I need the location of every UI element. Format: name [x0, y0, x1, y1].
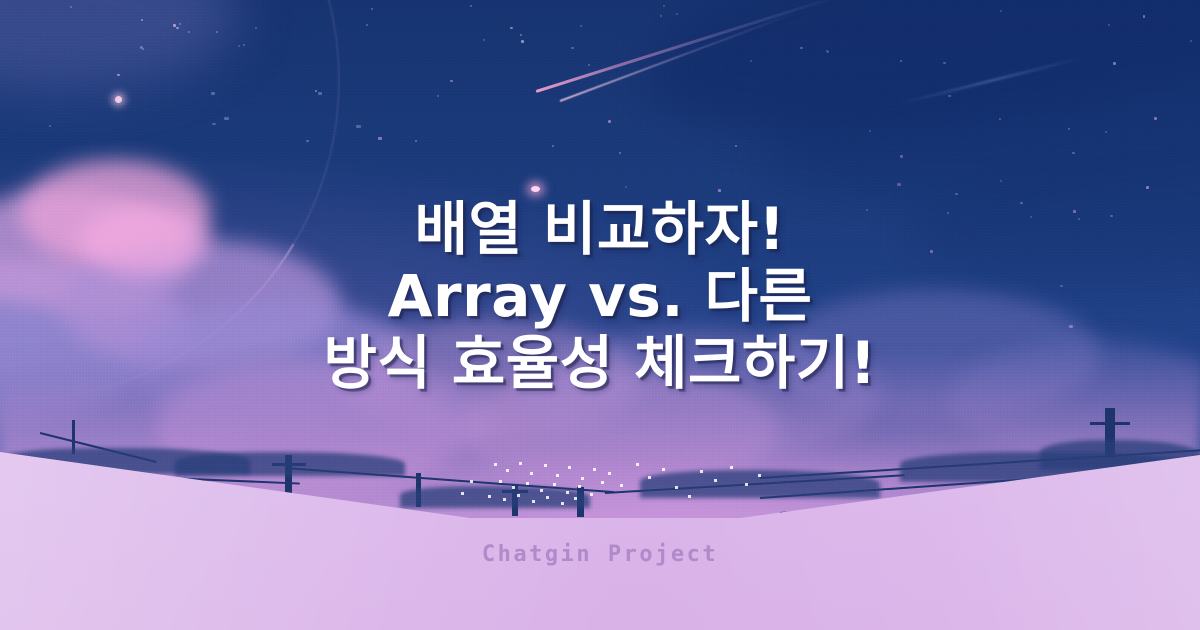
thumbnail-banner: 배열 비교하자! Array vs. 다른 방식 효율성 체크하기! Chatg… — [0, 0, 1200, 630]
brand-label: Chatgin Project — [0, 542, 1200, 567]
